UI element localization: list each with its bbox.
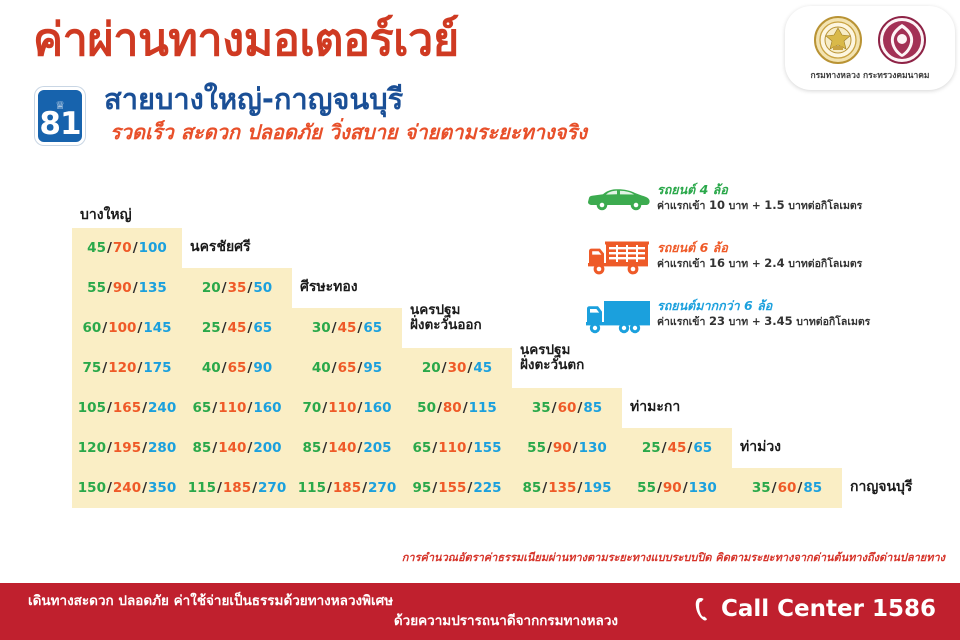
fare-separator: / — [221, 360, 228, 376]
fare-truck6plus: 90 — [253, 360, 272, 376]
fare-car4: 25 — [642, 440, 661, 456]
fare-separator: / — [106, 480, 113, 496]
fare-cell: 30/45/65 — [292, 308, 402, 348]
fare-separator: / — [246, 320, 253, 336]
fare-cell: 50/80/115 — [402, 388, 512, 428]
fare-cell: 120/195/280 — [72, 428, 182, 468]
fare-truck6: 135 — [548, 480, 576, 496]
fare-separator: / — [246, 280, 253, 296]
fare-cell: 150/240/350 — [72, 468, 182, 508]
legend-per-km-rate: 1.5 — [764, 198, 784, 212]
fare-separator: / — [101, 360, 108, 376]
fare-separator: / — [541, 480, 548, 496]
fare-truck6: 70 — [113, 240, 132, 256]
fare-truck6plus: 175 — [143, 360, 171, 376]
fare-car4: 50 — [417, 400, 436, 416]
legend-base-fare: 23 — [709, 314, 725, 328]
legend-desc-prefix: ค่าแรกเข้า — [657, 258, 709, 270]
fare-separator: / — [321, 400, 328, 416]
fare-truck6: 140 — [218, 440, 246, 456]
fare-car4: 95 — [412, 480, 431, 496]
fare-car4: 45 — [87, 240, 106, 256]
legend-per-km-rate: 2.4 — [764, 256, 784, 270]
fare-separator: / — [356, 360, 363, 376]
orange-truck-6wheel-icon — [583, 238, 655, 278]
fare-separator: / — [361, 480, 368, 496]
fare-car4: 85 — [192, 440, 211, 456]
fare-separator: / — [141, 400, 148, 416]
legend-item-car4: รถยนต์ 4 ล้อ ค่าแรกเข้า 10 บาท + 1.5 บาท… — [583, 180, 953, 226]
fare-car4: 120 — [78, 440, 106, 456]
fare-car4: 40 — [202, 360, 221, 376]
footer-message: เดินทางสะดวก ปลอดภัย ค่าใช้จ่ายเป็นธรรมด… — [28, 591, 628, 632]
fare-car4: 20 — [422, 360, 441, 376]
fare-truck6: 30 — [448, 360, 467, 376]
legend-base-fare: 16 — [709, 256, 725, 270]
fare-truck6plus: 100 — [139, 240, 167, 256]
fare-truck6plus: 65 — [693, 440, 712, 456]
fare-car4: 115 — [298, 480, 326, 496]
fare-truck6: 110 — [328, 400, 356, 416]
legend-desc: ค่าแรกเข้า 23 บาท + 3.45 บาทต่อกิโลเมตร — [657, 314, 870, 330]
matrix-station-label: ศีรษะทอง — [292, 268, 358, 308]
page-title: ค่าผ่านทางมอเตอร์เวย์ — [33, 17, 459, 62]
fare-separator: / — [331, 320, 338, 336]
legend-title: รถยนต์ 4 ล้อ — [657, 182, 862, 198]
legend-text-car4: รถยนต์ 4 ล้อ ค่าแรกเข้า 10 บาท + 1.5 บาท… — [655, 180, 862, 213]
fare-separator: / — [661, 440, 668, 456]
route-tagline: รวดเร็ว สะดวก ปลอดภัย วิ่งสบาย จ่ายตามระ… — [110, 121, 587, 143]
fare-cell: 55/90/130 — [512, 428, 622, 468]
fare-cell: 45/70/100 — [72, 228, 182, 268]
fare-cell: 40/65/95 — [292, 348, 402, 388]
fare-separator: / — [106, 280, 113, 296]
fare-truck6plus: 115 — [469, 400, 497, 416]
fare-separator: / — [466, 480, 473, 496]
fare-separator: / — [441, 360, 448, 376]
fare-separator: / — [546, 440, 553, 456]
fare-truck6: 90 — [663, 480, 682, 496]
fare-cell: 65/110/155 — [402, 428, 512, 468]
fare-cell: 85/140/200 — [182, 428, 292, 468]
fare-cell: 25/45/65 — [182, 308, 292, 348]
fare-separator: / — [576, 400, 583, 416]
fare-truck6plus: 240 — [148, 400, 176, 416]
fare-separator: / — [466, 440, 473, 456]
fare-truck6plus: 280 — [148, 440, 176, 456]
legend-desc-mid: บาท + — [725, 316, 764, 328]
fare-separator: / — [136, 320, 143, 336]
fare-cell: 55/90/135 — [72, 268, 182, 308]
legend-item-truck6: รถยนต์ 6 ล้อ ค่าแรกเข้า 16 บาท + 2.4 บาท… — [583, 238, 953, 284]
legend-title: รถยนต์มากกว่า 6 ล้อ — [657, 298, 870, 314]
fare-cell: 35/60/85 — [512, 388, 622, 428]
legend-desc-prefix: ค่าแรกเข้า — [657, 200, 709, 212]
fare-separator: / — [101, 320, 108, 336]
fare-truck6plus: 65 — [253, 320, 272, 336]
fare-cell: 40/65/90 — [182, 348, 292, 388]
matrix-station-label: ท่ามะกา — [622, 388, 680, 428]
fare-cell: 60/100/145 — [72, 308, 182, 348]
blue-truck-large-icon — [583, 296, 655, 336]
fare-cell: 35/60/85 — [732, 468, 842, 508]
fare-cell: 115/185/270 — [182, 468, 292, 508]
fare-truck6: 60 — [558, 400, 577, 416]
legend-desc-mid: บาท + — [725, 258, 764, 270]
fare-car4: 150 — [78, 480, 106, 496]
fare-truck6: 90 — [113, 280, 132, 296]
fare-separator: / — [796, 480, 803, 496]
fare-truck6plus: 130 — [579, 440, 607, 456]
fare-separator: / — [216, 480, 223, 496]
route-number: 81 — [39, 110, 80, 139]
call-center-label: Call Center 1586 — [721, 596, 936, 622]
fare-cell: 65/110/160 — [182, 388, 292, 428]
fare-car4: 85 — [522, 480, 541, 496]
legend-desc: ค่าแรกเข้า 10 บาท + 1.5 บาทต่อกิโลเมตร — [657, 198, 862, 214]
fare-truck6: 185 — [333, 480, 361, 496]
fare-cell: 105/165/240 — [72, 388, 182, 428]
matrix-station-label: นครชัยศรี — [182, 228, 251, 268]
fare-separator: / — [141, 440, 148, 456]
fare-truck6plus: 200 — [253, 440, 281, 456]
fare-separator: / — [136, 360, 143, 376]
fare-separator: / — [221, 320, 228, 336]
ministry-transport-emblem — [877, 15, 927, 65]
green-sedan-icon — [583, 180, 655, 220]
fare-truck6plus: 225 — [473, 480, 501, 496]
fare-truck6plus: 85 — [803, 480, 822, 496]
fare-car4: 75 — [82, 360, 101, 376]
fare-separator: / — [356, 320, 363, 336]
fare-separator: / — [326, 480, 333, 496]
matrix-station-label: กาญจนบุรี — [842, 468, 912, 508]
route-shield-81: ♕ 81 — [35, 87, 85, 145]
route-subtitle: สายบางใหญ่-กาญจนบุรี — [104, 84, 403, 116]
fare-truck6plus: 50 — [253, 280, 272, 296]
matrix-station-label: นครปฐมฝั่งตะวันออก — [402, 298, 482, 338]
fare-car4: 65 — [192, 400, 211, 416]
fare-truck6: 165 — [113, 400, 141, 416]
fare-separator: / — [356, 440, 363, 456]
legend-base-fare: 10 — [709, 198, 725, 212]
matrix-station-label: นครปฐมฝั่งตะวันตก — [512, 338, 584, 378]
fare-separator: / — [551, 400, 558, 416]
agency-caption: กรมทางหลวง กระทรวงคมนาคม — [810, 68, 929, 82]
fare-separator: / — [572, 440, 579, 456]
fare-car4: 55 — [87, 280, 106, 296]
fare-cell: 85/135/195 — [512, 468, 622, 508]
fare-truck6plus: 270 — [258, 480, 286, 496]
fare-truck6plus: 205 — [363, 440, 391, 456]
fare-separator: / — [686, 440, 693, 456]
fare-cell: 20/30/45 — [402, 348, 512, 388]
fare-truck6: 45 — [338, 320, 357, 336]
fare-truck6: 90 — [553, 440, 572, 456]
fare-car4: 115 — [188, 480, 216, 496]
fare-separator: / — [576, 480, 583, 496]
fare-truck6plus: 145 — [143, 320, 171, 336]
fare-car4: 55 — [637, 480, 656, 496]
fare-separator: / — [466, 360, 473, 376]
fare-car4: 30 — [312, 320, 331, 336]
legend-title: รถยนต์ 6 ล้อ — [657, 240, 862, 256]
fare-truck6plus: 65 — [363, 320, 382, 336]
fare-truck6plus: 45 — [473, 360, 492, 376]
fare-car4: 40 — [312, 360, 331, 376]
fare-car4: 20 — [202, 280, 221, 296]
fare-separator: / — [141, 480, 148, 496]
fare-cell: 75/120/175 — [72, 348, 182, 388]
fare-separator: / — [211, 400, 218, 416]
footer-line-1: เดินทางสะดวก ปลอดภัย ค่าใช้จ่ายเป็นธรรมด… — [28, 591, 628, 611]
calculation-note: การคำนวณอัตราค่าธรรมเนียมผ่านทางตามระยะท… — [0, 548, 945, 566]
fare-cell: 55/90/130 — [622, 468, 732, 508]
fare-truck6plus: 130 — [689, 480, 717, 496]
matrix-origin-label-0: บางใหญ่ — [80, 204, 132, 226]
fare-truck6plus: 195 — [583, 480, 611, 496]
fare-separator: / — [436, 400, 443, 416]
fare-separator: / — [462, 400, 469, 416]
fare-car4: 105 — [78, 400, 106, 416]
fare-car4: 65 — [412, 440, 431, 456]
legend-desc-suffix: บาทต่อกิโลเมตร — [793, 316, 871, 328]
fare-truck6plus: 135 — [139, 280, 167, 296]
fare-cell: 70/110/160 — [292, 388, 402, 428]
fare-car4: 55 — [527, 440, 546, 456]
fare-truck6: 60 — [778, 480, 797, 496]
fare-truck6: 100 — [108, 320, 136, 336]
fare-truck6: 110 — [218, 400, 246, 416]
fare-truck6plus: 160 — [363, 400, 391, 416]
fare-separator: / — [106, 240, 113, 256]
fare-truck6: 45 — [668, 440, 687, 456]
fare-truck6: 155 — [438, 480, 466, 496]
fare-truck6: 195 — [113, 440, 141, 456]
fare-truck6plus: 350 — [148, 480, 176, 496]
legend-desc-suffix: บาทต่อกิโลเมตร — [785, 258, 863, 270]
fare-separator: / — [211, 440, 218, 456]
dept-highways-emblem — [813, 15, 863, 65]
legend-text-truck6: รถยนต์ 6 ล้อ ค่าแรกเข้า 16 บาท + 2.4 บาท… — [655, 238, 862, 271]
legend-per-km-rate: 3.45 — [764, 314, 792, 328]
legend-desc-prefix: ค่าแรกเข้า — [657, 316, 709, 328]
fare-cell: 25/45/65 — [622, 428, 732, 468]
fare-separator: / — [221, 280, 228, 296]
emblem-row — [813, 15, 927, 65]
fare-separator: / — [246, 360, 253, 376]
footer-line-2: ด้วยความปรารถนาดีจากกรมทางหลวง — [28, 611, 628, 631]
footer-bar: เดินทางสะดวก ปลอดภัย ค่าใช้จ่ายเป็นธรรมด… — [0, 583, 960, 640]
fare-car4: 60 — [82, 320, 101, 336]
fare-truck6: 35 — [228, 280, 247, 296]
fare-truck6plus: 155 — [473, 440, 501, 456]
infographic-poster: ค่าผ่านทางมอเตอร์เวย์ ♕ 81 สายบางใหญ่-กา… — [0, 0, 960, 640]
fare-truck6: 110 — [438, 440, 466, 456]
matrix-station-label: ท่าม่วง — [732, 428, 781, 468]
fare-car4: 85 — [302, 440, 321, 456]
fare-truck6: 80 — [443, 400, 462, 416]
fare-car4: 35 — [752, 480, 771, 496]
fare-truck6: 140 — [328, 440, 356, 456]
fare-car4: 35 — [532, 400, 551, 416]
fare-cell: 115/185/270 — [292, 468, 402, 508]
fare-truck6: 65 — [338, 360, 357, 376]
fare-separator: / — [321, 440, 328, 456]
fare-separator: / — [106, 440, 113, 456]
fare-car4: 25 — [202, 320, 221, 336]
vehicle-rate-legend: รถยนต์ 4 ล้อ ค่าแรกเข้า 10 บาท + 1.5 บาท… — [583, 180, 953, 354]
agency-logo-badge: กรมทางหลวง กระทรวงคมนาคม — [785, 6, 955, 90]
fare-separator: / — [431, 480, 438, 496]
call-center-block[interactable]: Call Center 1586 — [694, 596, 936, 622]
fare-cell: 85/140/205 — [292, 428, 402, 468]
phone-icon — [694, 597, 713, 621]
fare-separator: / — [656, 480, 663, 496]
legend-desc-suffix: บาทต่อกิโลเมตร — [785, 200, 863, 212]
legend-item-truck6plus: รถยนต์มากกว่า 6 ล้อ ค่าแรกเข้า 23 บาท + … — [583, 296, 953, 342]
fare-separator: / — [356, 400, 363, 416]
fare-separator: / — [331, 360, 338, 376]
fare-car4: 70 — [302, 400, 321, 416]
fare-truck6: 185 — [223, 480, 251, 496]
legend-desc-mid: บาท + — [725, 200, 764, 212]
fare-separator: / — [431, 440, 438, 456]
fare-truck6plus: 270 — [368, 480, 396, 496]
fare-truck6plus: 85 — [583, 400, 602, 416]
fare-separator: / — [246, 400, 253, 416]
fare-separator: / — [251, 480, 258, 496]
fare-cell: 20/35/50 — [182, 268, 292, 308]
fare-separator: / — [132, 280, 139, 296]
fare-cell: 95/155/225 — [402, 468, 512, 508]
fare-separator: / — [132, 240, 139, 256]
fare-truck6plus: 160 — [253, 400, 281, 416]
fare-separator: / — [771, 480, 778, 496]
fare-truck6: 65 — [228, 360, 247, 376]
fare-truck6plus: 95 — [363, 360, 382, 376]
fare-truck6: 45 — [228, 320, 247, 336]
fare-separator: / — [682, 480, 689, 496]
fare-truck6: 120 — [108, 360, 136, 376]
legend-desc: ค่าแรกเข้า 16 บาท + 2.4 บาทต่อกิโลเมตร — [657, 256, 862, 272]
legend-text-truck6plus: รถยนต์มากกว่า 6 ล้อ ค่าแรกเข้า 23 บาท + … — [655, 296, 870, 329]
fare-separator: / — [106, 400, 113, 416]
fare-separator: / — [246, 440, 253, 456]
fare-truck6: 240 — [113, 480, 141, 496]
